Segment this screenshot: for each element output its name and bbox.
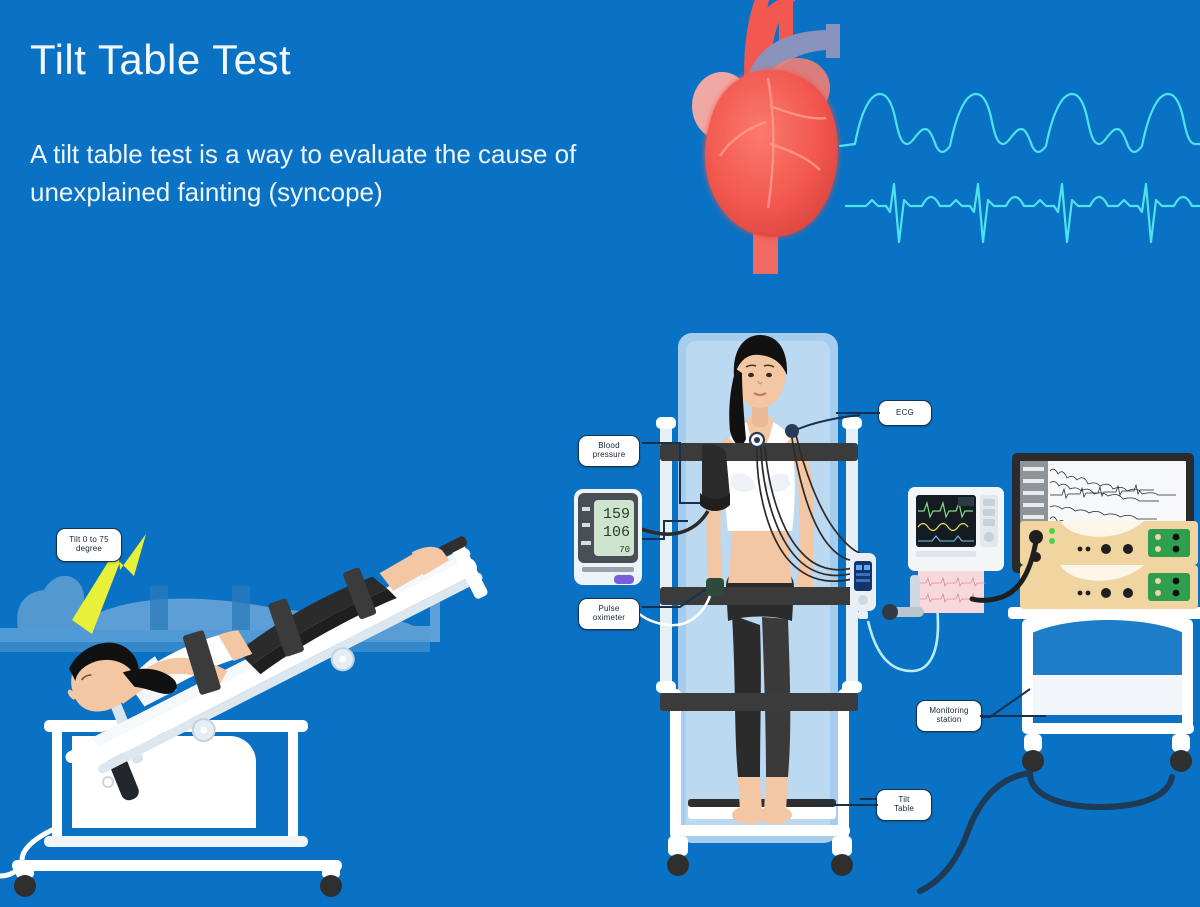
- infographic-canvas: Tilt Table Test A tilt table test is a w…: [0, 0, 1200, 907]
- page-subtitle: A tilt table test is a way to evaluate t…: [30, 136, 650, 211]
- callout-bp-line2: pressure: [593, 451, 626, 460]
- callout-pulseox-line2: oximeter: [593, 614, 625, 623]
- callout-monitoring-station: Monitoring station: [916, 700, 982, 732]
- holter-recorder: [850, 553, 876, 619]
- arterial-pressure-waveform: [840, 94, 1200, 152]
- caster-wheel: [831, 836, 853, 876]
- left-tilt-table-scene: [0, 390, 580, 907]
- bp-pulse-value: 70: [619, 545, 630, 555]
- bp-systolic-value: 159: [603, 506, 630, 523]
- bp-diastolic-value: 106: [603, 524, 630, 541]
- callout-pulse-oximeter: Pulse oximeter: [578, 598, 640, 630]
- callout-ecg: ECG: [878, 400, 932, 426]
- leader-monitoring-station: [980, 715, 1046, 717]
- caster-wheel: [320, 860, 342, 897]
- callout-blood-pressure: Blood pressure: [578, 435, 640, 467]
- caster-wheel: [1022, 734, 1044, 772]
- callout-tilttable-line2: Table: [894, 805, 914, 814]
- knee-strap: [660, 693, 858, 711]
- callout-tilt-table: Tilt Table: [876, 789, 932, 821]
- blood-pressure-monitor: 159 106 70: [574, 489, 642, 585]
- amplifier-unit: [1020, 521, 1198, 565]
- page-title: Tilt Table Test: [30, 36, 291, 84]
- pulmonary-branch-shape: [826, 24, 840, 58]
- ecg-waveform: [846, 184, 1200, 242]
- leader-ecg: [836, 412, 880, 414]
- leader-tilt-table: [820, 804, 878, 806]
- amplifier-unit: [1020, 565, 1198, 609]
- heart-ecg-graphic: [650, 0, 1200, 274]
- caster-wheel: [1170, 734, 1192, 772]
- callout-tilt-degree: Tilt 0 to 75 degree: [56, 528, 122, 562]
- caster-wheel: [667, 836, 689, 876]
- tilt-table-base-frame: [0, 720, 342, 897]
- callout-monstation-line2: station: [937, 716, 962, 725]
- hip-strap: [660, 587, 858, 605]
- callout-ecg-label: ECG: [896, 409, 914, 418]
- bp-cuff: [702, 444, 730, 504]
- caster-wheel: [14, 860, 36, 897]
- callout-tilt-line2: degree: [76, 545, 102, 554]
